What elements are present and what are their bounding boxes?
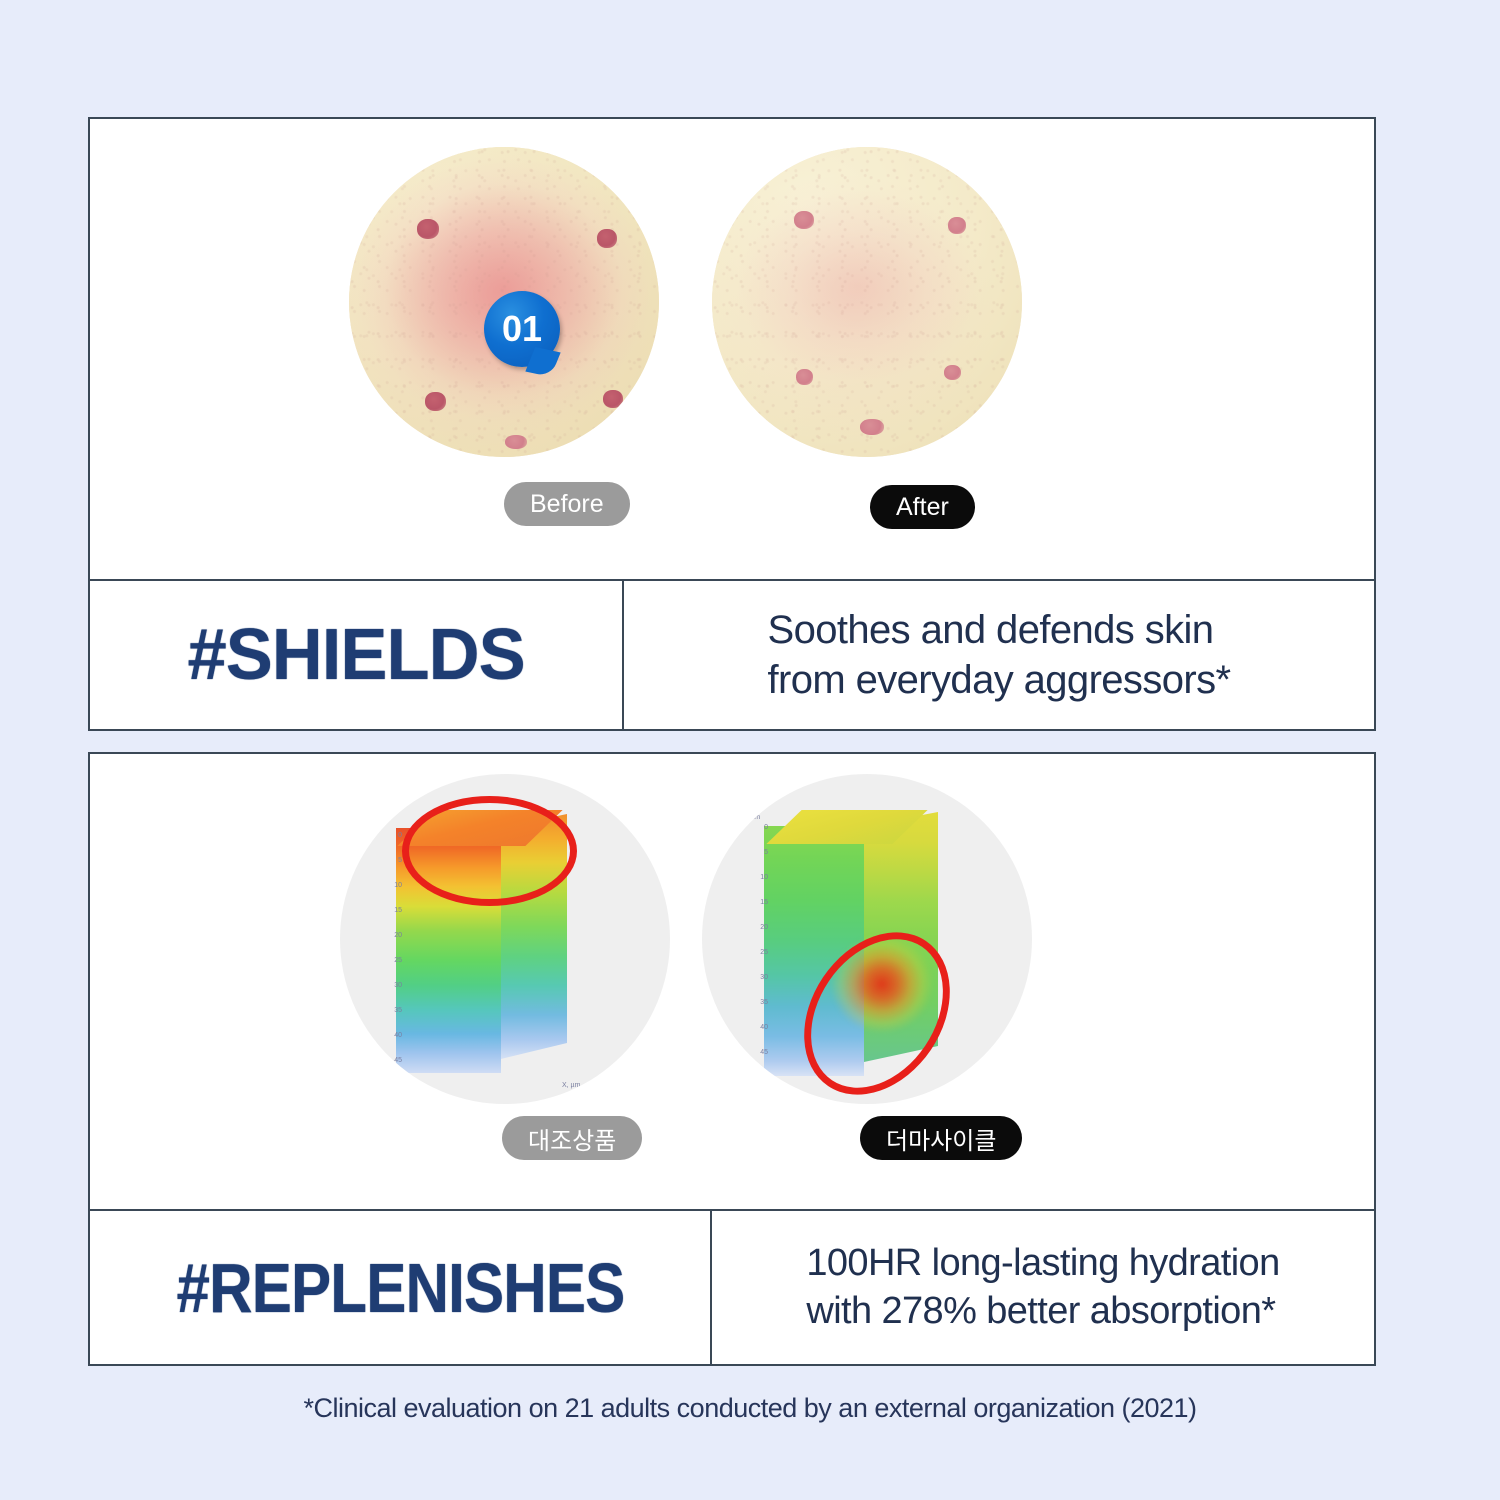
- axis-tick: 0: [764, 824, 768, 831]
- control-caption-pill: 대조상품: [502, 1116, 642, 1160]
- axis-tick: 45: [760, 1049, 768, 1056]
- hashtag-replenishes: #REPLENISHES: [176, 1248, 624, 1328]
- hashtag-shields: #SHIELDS: [187, 614, 524, 696]
- axis-tick: 25: [760, 949, 768, 956]
- axis-tick: 15: [394, 907, 402, 914]
- heatmap-depth-axis: 0 5 10 15 20 25 30 35 40 45 50: [750, 824, 768, 1074]
- skin-test-spot: [860, 419, 884, 435]
- skin-test-spot: [597, 229, 617, 248]
- highlight-ellipse-annotation: [402, 796, 577, 906]
- heatmap-depth-axis: 0 5 10 15 20 25 30 35 40 45 50: [384, 832, 402, 1082]
- claim-line: Soothes and defends skin: [768, 605, 1231, 655]
- claim-line: from everyday aggressors*: [768, 655, 1231, 705]
- before-caption-pill: Before: [504, 482, 630, 526]
- axis-tick: 35: [394, 1007, 402, 1014]
- axis-tick: 40: [760, 1024, 768, 1031]
- axis-tick: 5: [398, 857, 402, 864]
- skin-test-spot: [417, 219, 439, 239]
- replenishes-hashtag-cell: #REPLENISHES: [90, 1211, 712, 1364]
- heatmap-x-unit-label: X, µm: [562, 1082, 580, 1089]
- axis-tick: 5: [764, 849, 768, 856]
- heatmap-visual-row: 0 5 10 15 20 25 30 35 40 45 50 X, µm: [90, 754, 1374, 1207]
- axis-tick: 50: [394, 1080, 402, 1087]
- before-after-visual-row: 01 Before After: [90, 119, 1374, 577]
- shields-text-row: #SHIELDS Soothes and defends skin from e…: [90, 579, 1374, 729]
- after-skin-photo: [712, 147, 1022, 457]
- axis-tick: 10: [394, 882, 402, 889]
- skin-test-spot: [796, 369, 813, 385]
- skin-photo-pair: 01 Before After: [90, 119, 1374, 577]
- heatmap-z-unit-label: Z, µm: [742, 814, 760, 821]
- axis-tick: 40: [394, 1032, 402, 1039]
- claim-line: 100HR long-lasting hydration: [806, 1240, 1279, 1288]
- skin-test-spot: [603, 390, 623, 408]
- axis-tick: 0: [398, 832, 402, 839]
- shields-claim-cell: Soothes and defends skin from everyday a…: [624, 581, 1374, 729]
- skin-grain-texture: [712, 147, 1022, 457]
- brand-caption-pill: 더마사이클: [860, 1116, 1022, 1160]
- clinical-footnote: *Clinical evaluation on 21 adults conduc…: [0, 1393, 1500, 1424]
- skin-test-spot: [794, 211, 814, 229]
- step-number-badge-01: 01: [484, 291, 560, 367]
- heatmap-pair: 0 5 10 15 20 25 30 35 40 45 50 X, µm: [90, 754, 1374, 1207]
- claim-text-replenishes: 100HR long-lasting hydration with 278% b…: [806, 1240, 1279, 1336]
- axis-tick: 20: [394, 932, 402, 939]
- after-caption-pill: After: [870, 485, 975, 529]
- section-card-replenishes: 0 5 10 15 20 25 30 35 40 45 50 X, µm: [88, 752, 1376, 1366]
- axis-tick: 50: [760, 1072, 768, 1079]
- skin-test-spot: [505, 435, 527, 449]
- brand-heatmap-image: 0 5 10 15 20 25 30 35 40 45 50 Z, µm: [702, 774, 1032, 1104]
- axis-tick: 15: [760, 899, 768, 906]
- axis-tick: 30: [394, 982, 402, 989]
- axis-tick: 30: [760, 974, 768, 981]
- axis-tick: 25: [394, 957, 402, 964]
- axis-tick: 45: [394, 1057, 402, 1064]
- skin-test-spot: [944, 365, 961, 380]
- shields-hashtag-cell: #SHIELDS: [90, 581, 624, 729]
- control-heatmap-image: 0 5 10 15 20 25 30 35 40 45 50 X, µm: [340, 774, 670, 1104]
- section-card-shields: 01 Before After #SHIELDS Soothes and def…: [88, 117, 1376, 731]
- replenishes-text-row: #REPLENISHES 100HR long-lasting hydratio…: [90, 1209, 1374, 1364]
- claim-text-shields: Soothes and defends skin from everyday a…: [768, 605, 1231, 706]
- skin-test-spot: [948, 217, 966, 234]
- claim-line: with 278% better absorption*: [806, 1288, 1279, 1336]
- axis-tick: 20: [760, 924, 768, 931]
- skin-test-spot: [425, 392, 446, 411]
- axis-tick: 35: [760, 999, 768, 1006]
- replenishes-claim-cell: 100HR long-lasting hydration with 278% b…: [712, 1211, 1374, 1364]
- infographic-page: 01 Before After #SHIELDS Soothes and def…: [0, 0, 1500, 1500]
- axis-tick: 10: [760, 874, 768, 881]
